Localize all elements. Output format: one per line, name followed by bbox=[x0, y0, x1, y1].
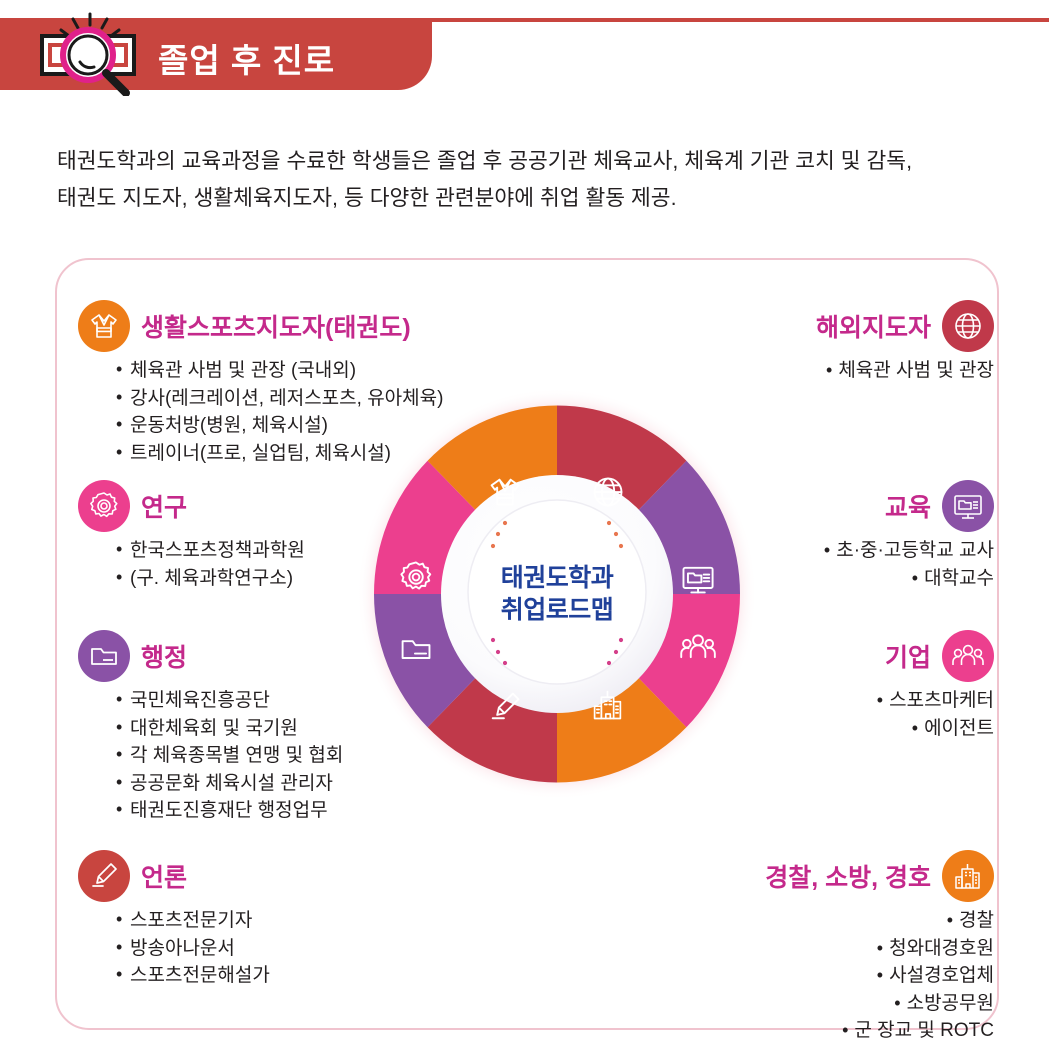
list-item: 소방공무원 bbox=[765, 990, 994, 1018]
career-roadmap-wheel: 태권도학과 취업로드맵 bbox=[357, 388, 757, 800]
category-research: 연구 한국스포츠정책과학원 (구. 체육과학연구소) bbox=[78, 480, 305, 592]
category-police-fire-security: 경찰, 소방, 경호 경찰 청와대경호원 사설경호업체 소방공무원 군 장교 및… bbox=[765, 850, 994, 1045]
page-header: 졸업 후 진로 bbox=[0, 18, 1049, 90]
list-item: 국민체육진흥공단 bbox=[116, 687, 343, 715]
globe-icon bbox=[942, 300, 994, 352]
category-education: 교육 초·중·고등학교 교사 대학교수 bbox=[824, 480, 994, 592]
list-item: 경찰 bbox=[765, 907, 994, 935]
category-overseas-instructor: 해외지도자 체육관 사범 및 관장 bbox=[816, 300, 994, 385]
list-item: 초·중·고등학교 교사 bbox=[824, 537, 994, 565]
category-items: 스포츠마케터 에이전트 bbox=[877, 687, 994, 742]
building-icon bbox=[942, 850, 994, 902]
category-header: 연구 bbox=[78, 480, 305, 532]
pen-icon bbox=[78, 850, 130, 902]
category-title: 언론 bbox=[141, 858, 187, 894]
monitor-icon bbox=[942, 480, 994, 532]
magnifier-icon bbox=[28, 10, 150, 96]
category-enterprise: 기업 스포츠마케터 에이전트 bbox=[877, 630, 994, 742]
category-header: 경찰, 소방, 경호 bbox=[765, 850, 994, 902]
category-items: 체육관 사범 및 관장 bbox=[816, 357, 994, 385]
gear-icon bbox=[78, 480, 130, 532]
category-items: 한국스포츠정책과학원 (구. 체육과학연구소) bbox=[116, 537, 305, 592]
category-header: 행정 bbox=[78, 630, 343, 682]
people-icon bbox=[942, 630, 994, 682]
list-item: 사설경호업체 bbox=[765, 962, 994, 990]
list-item: 대한체육회 및 국기원 bbox=[116, 715, 343, 743]
category-title: 생활스포츠지도자(태권도) bbox=[141, 308, 411, 344]
category-title: 행정 bbox=[141, 638, 187, 674]
list-item: 방송아나운서 bbox=[116, 935, 270, 963]
list-item: 군 장교 및 ROTC bbox=[765, 1017, 994, 1045]
category-header: 교육 bbox=[824, 480, 994, 532]
intro-paragraph: 태권도학과의 교육과정을 수료한 학생들은 졸업 후 공공기관 체육교사, 체육… bbox=[57, 143, 1017, 217]
category-administration: 행정 국민체육진흥공단 대한체육회 및 국기원 각 체육종목별 연맹 및 협회 … bbox=[78, 630, 343, 825]
list-item-cont: (구. 체육과학연구소) bbox=[116, 565, 305, 593]
category-title: 연구 bbox=[141, 488, 187, 524]
page-title: 졸업 후 진로 bbox=[158, 34, 335, 82]
category-header: 해외지도자 bbox=[816, 300, 994, 352]
category-header: 생활스포츠지도자(태권도) bbox=[78, 300, 443, 352]
list-item: 체육관 사범 및 관장 (국내외) bbox=[116, 357, 443, 385]
list-item: 공공문화 체육시설 관리자 bbox=[116, 770, 343, 798]
list-item: 스포츠전문해설가 bbox=[116, 962, 270, 990]
category-title: 해외지도자 bbox=[816, 308, 931, 344]
uniform-icon bbox=[78, 300, 130, 352]
category-items: 초·중·고등학교 교사 대학교수 bbox=[824, 537, 994, 592]
wheel-core-disc bbox=[468, 500, 646, 684]
list-item: 각 체육종목별 연맹 및 협회 bbox=[116, 742, 343, 770]
category-title: 경찰, 소방, 경호 bbox=[765, 858, 931, 894]
category-header: 기업 bbox=[877, 630, 994, 682]
list-item: 대학교수 bbox=[824, 565, 994, 593]
folder-icon bbox=[78, 630, 130, 682]
list-item: 스포츠전문기자 bbox=[116, 907, 270, 935]
category-header: 언론 bbox=[78, 850, 270, 902]
list-item: 체육관 사범 및 관장 bbox=[816, 357, 994, 385]
category-items: 국민체육진흥공단 대한체육회 및 국기원 각 체육종목별 연맹 및 협회 공공문… bbox=[116, 687, 343, 825]
list-item: 태권도진흥재단 행정업무 bbox=[116, 797, 343, 825]
intro-line-1: 태권도학과의 교육과정을 수료한 학생들은 졸업 후 공공기관 체육교사, 체육… bbox=[57, 143, 1017, 180]
intro-line-2: 태권도 지도자, 생활체육지도자, 등 다양한 관련분야에 취업 활동 제공. bbox=[57, 180, 1017, 217]
category-title: 교육 bbox=[885, 488, 931, 524]
category-title: 기업 bbox=[885, 638, 931, 674]
list-item: 에이전트 bbox=[877, 715, 994, 743]
list-item: 청와대경호원 bbox=[765, 935, 994, 963]
category-items: 스포츠전문기자 방송아나운서 스포츠전문해설가 bbox=[116, 907, 270, 990]
list-item: 한국스포츠정책과학원 bbox=[116, 537, 305, 565]
category-items: 경찰 청와대경호원 사설경호업체 소방공무원 군 장교 및 ROTC bbox=[765, 907, 994, 1045]
category-media: 언론 스포츠전문기자 방송아나운서 스포츠전문해설가 bbox=[78, 850, 270, 990]
list-item: 스포츠마케터 bbox=[877, 687, 994, 715]
